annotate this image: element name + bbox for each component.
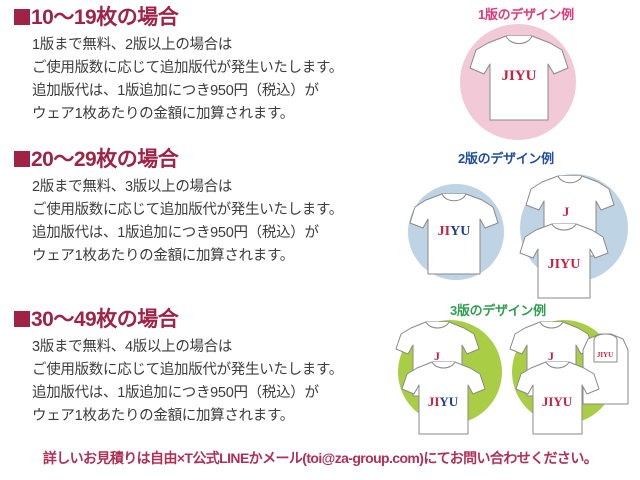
contact-footer: 詳しいお見積りは自由×T公式LINEかメール(toi@za-group.com)… <box>0 448 640 468</box>
square-bullet-icon <box>14 151 30 167</box>
design-example-1-label: 1版のデザイン例 <box>478 4 574 23</box>
tshirt-group-3: J JIYU J JIYU JIYU <box>388 300 640 442</box>
square-bullet-icon <box>14 9 30 25</box>
design-example-2: 2版のデザイン例 JIYU J JIYU <box>400 146 640 304</box>
body-line: 1版まで無料、2版以上の場合は <box>32 34 420 57</box>
body-line: 追加版代は、1版追加につき950円（税込）が <box>32 80 420 103</box>
body-line: ウェア1枚あたりの金額に加算されます。 <box>32 405 420 428</box>
design-example-2-label: 2版のデザイン例 <box>458 148 554 167</box>
shirt-print-text: JIYU <box>501 68 536 84</box>
body-line: ご使用版数に応じて追加版代が発生いたします。 <box>32 57 420 80</box>
section-heading-text: 30〜49枚の場合 <box>31 308 178 331</box>
section-body: 3版まで無料、4版以上の場合は ご使用版数に応じて追加版代が発生いたします。 追… <box>0 336 420 428</box>
section-heading: 20〜29枚の場合 <box>0 148 420 171</box>
shirt-print-text-small: JIYU <box>597 351 613 359</box>
body-line: 3版まで無料、4版以上の場合は <box>32 336 420 359</box>
section-body: 2版まで無料、3版以上の場合は ご使用版数に応じて追加版代が発生いたします。 追… <box>0 176 420 268</box>
shirt-print-text-split: JIYU <box>428 394 459 409</box>
shirt-print-text: JIYU <box>548 257 581 272</box>
pricing-section-20-29: 20〜29枚の場合 2版まで無料、3版以上の場合は ご使用版数に応じて追加版代が… <box>0 148 420 268</box>
design-example-1: 1版のデザイン例 JIYU <box>418 0 640 146</box>
section-body: 1版まで無料、2版以上の場合は ご使用版数に応じて追加版代が発生いたします。 追… <box>0 34 420 126</box>
section-heading: 30〜49枚の場合 <box>0 308 420 331</box>
body-line: 追加版代は、1版追加につき950円（税込）が <box>32 222 420 245</box>
shirt-print-initial: J <box>548 349 554 363</box>
square-bullet-icon <box>14 311 30 327</box>
body-line: ウェア1枚あたりの金額に加算されます。 <box>32 245 420 268</box>
shirt-print-text-split: JIYU <box>438 224 471 239</box>
body-line: ご使用版数に応じて追加版代が発生いたします。 <box>32 199 420 222</box>
shirt-print-text: JIYU <box>542 394 573 409</box>
pricing-section-30-49: 30〜49枚の場合 3版まで無料、4版以上の場合は ご使用版数に応じて追加版代が… <box>0 308 420 428</box>
shirt-print-initial: J <box>434 349 440 363</box>
design-example-3: 3版のデザイン例 J JIYU J JIYU JIYU <box>388 300 640 442</box>
shirt-print-initial: J <box>563 204 570 219</box>
body-line: ご使用版数に応じて追加版代が発生いたします。 <box>32 359 420 382</box>
tshirt-group-2: JIYU J JIYU <box>400 146 640 304</box>
pricing-section-10-19: 10〜19枚の場合 1版まで無料、2版以上の場合は ご使用版数に応じて追加版代が… <box>0 6 420 126</box>
body-line: 追加版代は、1版追加につき950円（税込）が <box>32 382 420 405</box>
section-heading-text: 20〜29枚の場合 <box>31 148 178 171</box>
section-heading-text: 10〜19枚の場合 <box>31 6 178 29</box>
body-line: 2版まで無料、3版以上の場合は <box>32 176 420 199</box>
body-line: ウェア1枚あたりの金額に加算されます。 <box>32 103 420 126</box>
design-example-3-label: 3版のデザイン例 <box>450 300 546 319</box>
section-heading: 10〜19枚の場合 <box>0 6 420 29</box>
